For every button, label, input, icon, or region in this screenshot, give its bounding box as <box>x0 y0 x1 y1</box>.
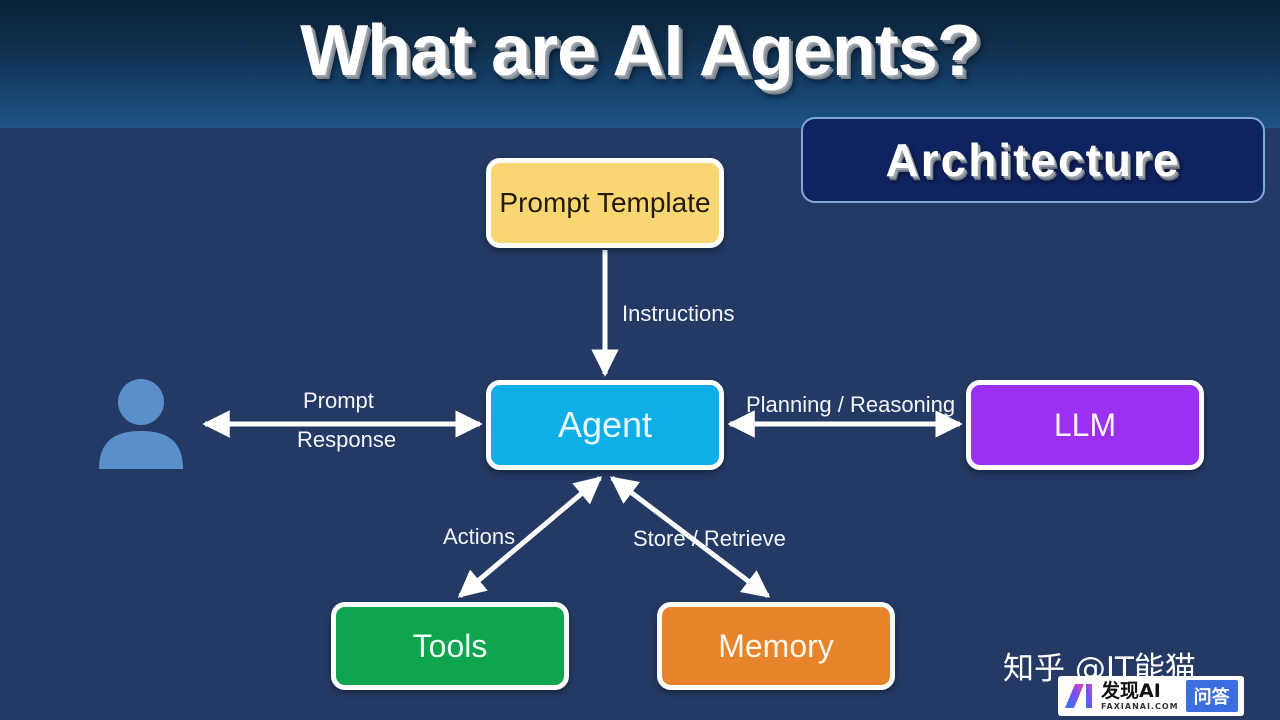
node-agent-label: Agent <box>558 407 652 443</box>
edge-label-planning: Planning / Reasoning <box>746 392 955 418</box>
promo-text-wrap: 发现AI FAXIANAI.COM <box>1101 682 1179 711</box>
edge-label-prompt: Prompt <box>303 388 374 414</box>
diagram-connectors <box>0 0 1280 720</box>
node-llm-label: LLM <box>1054 409 1116 441</box>
node-memory-label: Memory <box>718 630 834 662</box>
edge-label-store: Store / Retrieve <box>633 526 786 552</box>
promo-badge[interactable]: 发现AI FAXIANAI.COM 问答 <box>1058 676 1244 716</box>
node-prompt-template-label: Prompt Template <box>499 189 710 217</box>
edge-label-instructions: Instructions <box>622 301 735 327</box>
edge-label-response: Response <box>297 427 396 453</box>
node-llm[interactable]: LLM <box>966 380 1204 470</box>
ai-logo-mark-icon <box>1064 683 1094 709</box>
promo-title: 发现AI <box>1101 682 1179 701</box>
node-prompt-template[interactable]: Prompt Template <box>486 158 724 248</box>
promo-domain: FAXIANAI.COM <box>1101 703 1179 711</box>
user-avatar-icon <box>95 377 187 469</box>
edge-label-actions: Actions <box>443 524 515 550</box>
promo-cta-button[interactable]: 问答 <box>1186 680 1238 712</box>
node-agent[interactable]: Agent <box>486 380 724 470</box>
node-memory[interactable]: Memory <box>657 602 895 690</box>
node-tools[interactable]: Tools <box>331 602 569 690</box>
node-tools-label: Tools <box>413 630 488 662</box>
